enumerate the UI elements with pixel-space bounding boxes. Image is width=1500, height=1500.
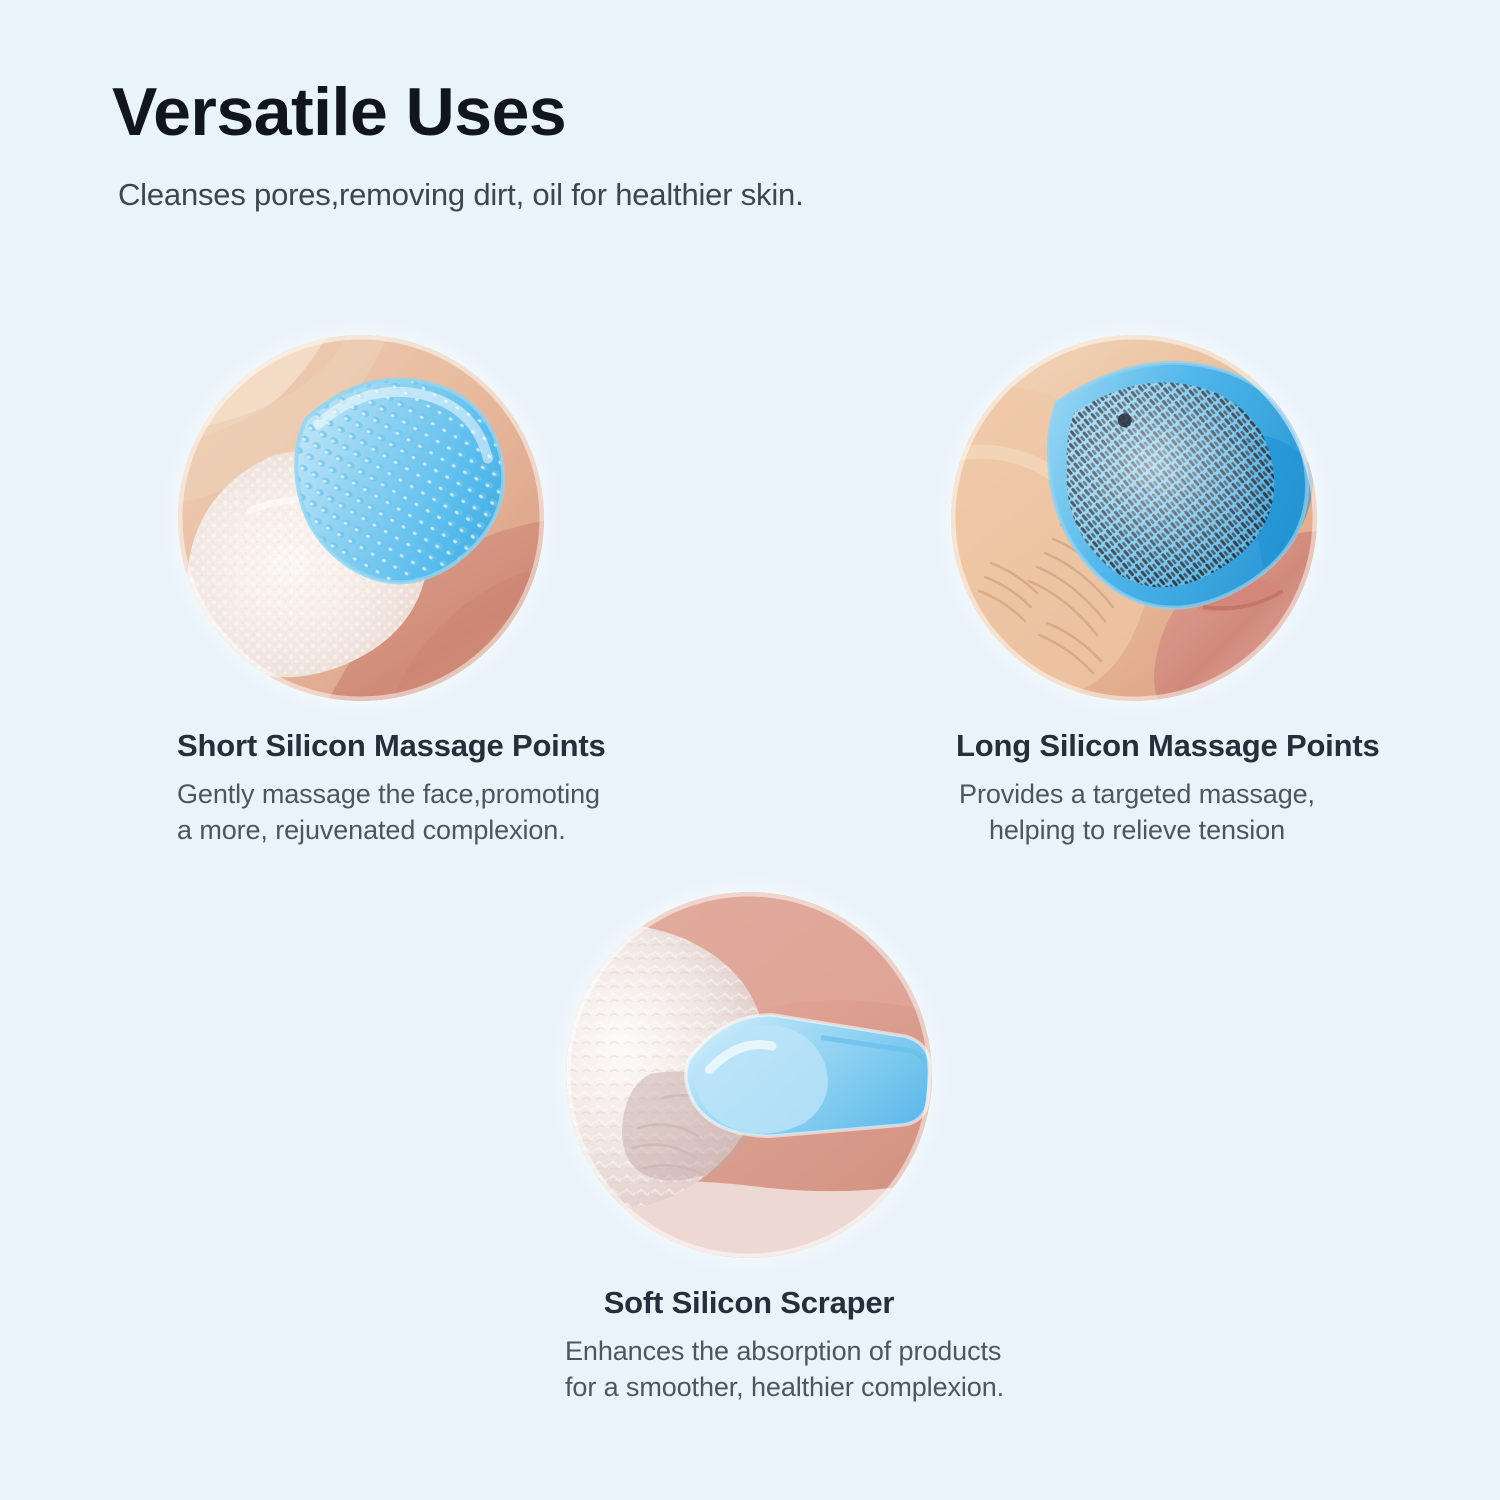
caption-body-scraper: Enhances the absorption of products for …	[565, 1333, 933, 1405]
caption-line: a more, rejuvenated complexion.	[177, 812, 545, 848]
short-points-illustration	[178, 335, 544, 701]
caption-line: Enhances the absorption of products	[565, 1333, 933, 1369]
feature-image-short-silicon-massage-points	[178, 335, 544, 701]
feature-card-long-silicon-massage-points: Long Silicon Massage Points Provides a t…	[950, 335, 1318, 848]
caption-title-long: Long Silicon Massage Points	[956, 727, 1318, 766]
caption-title-scraper: Soft Silicon Scraper	[565, 1284, 933, 1323]
feature-card-short-silicon-massage-points: Short Silicon Massage Points Gently mass…	[177, 335, 545, 848]
caption-title-short: Short Silicon Massage Points	[177, 727, 545, 766]
caption-body-long: Provides a targeted massage, helping to …	[956, 776, 1318, 848]
scraper-illustration	[566, 892, 932, 1258]
caption-line: helping to relieve tension	[956, 812, 1318, 848]
photo-halo-scraper	[566, 892, 932, 1258]
feature-image-soft-silicon-scraper	[566, 892, 932, 1258]
caption-line: Provides a targeted massage,	[956, 776, 1318, 812]
caption-short: Short Silicon Massage Points Gently mass…	[177, 727, 545, 848]
caption-scraper: Soft Silicon Scraper Enhances the absorp…	[565, 1284, 933, 1405]
page-subtitle: Cleanses pores,removing dirt, oil for he…	[118, 176, 1312, 213]
caption-line: for a smoother, healthier complexion.	[565, 1369, 933, 1405]
page-title: Versatile Uses	[112, 78, 1312, 146]
feature-card-soft-silicon-scraper: Soft Silicon Scraper Enhances the absorp…	[565, 892, 933, 1405]
header: Versatile Uses Cleanses pores,removing d…	[112, 78, 1312, 213]
caption-long: Long Silicon Massage Points Provides a t…	[950, 727, 1318, 848]
photo-halo-long	[951, 335, 1317, 701]
photo-halo-short	[178, 335, 544, 701]
long-points-illustration	[951, 335, 1317, 701]
caption-body-short: Gently massage the face,promoting a more…	[177, 776, 545, 848]
caption-line: Gently massage the face,promoting	[177, 776, 545, 812]
feature-image-long-silicon-massage-points	[951, 335, 1317, 701]
infographic-page: Versatile Uses Cleanses pores,removing d…	[0, 0, 1500, 1500]
